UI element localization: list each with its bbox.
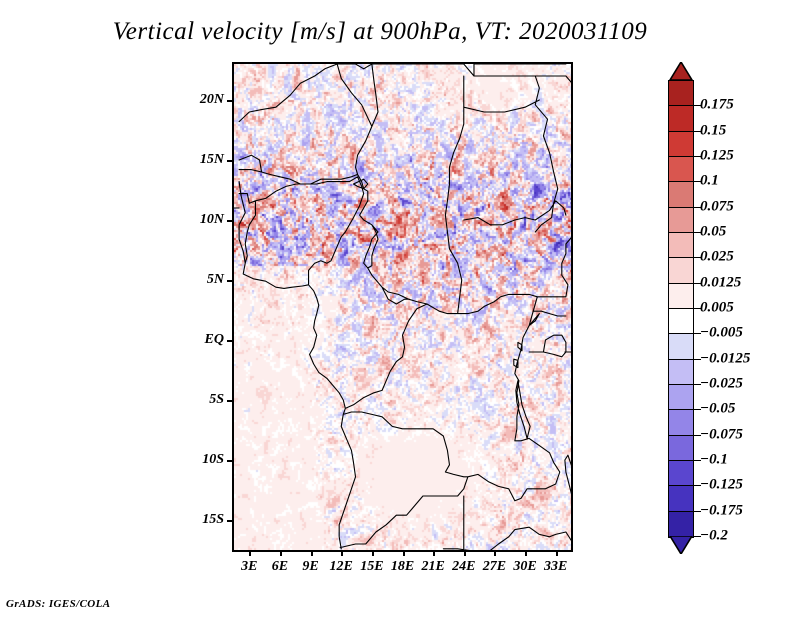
y-tick bbox=[227, 220, 234, 222]
colorbar-min-arrow bbox=[668, 536, 694, 554]
colorbar-swatch bbox=[668, 181, 694, 208]
x-tick-label: 6E bbox=[272, 559, 288, 575]
x-tick-label: 24E bbox=[452, 559, 475, 575]
y-tick-label: 20N bbox=[200, 92, 224, 108]
x-tick bbox=[280, 550, 282, 556]
colorbar-swatch bbox=[668, 131, 694, 158]
x-tick-label: 27E bbox=[483, 559, 506, 575]
map-plot-area: 20N15N10N5NEQ5S10S15S 3E6E9E12E15E18E21E… bbox=[232, 62, 573, 552]
colorbar-label: 0.005 bbox=[700, 300, 734, 317]
y-tick-label: EQ bbox=[205, 332, 224, 348]
colorbar-swatch bbox=[668, 435, 694, 462]
x-tick bbox=[249, 550, 251, 556]
colorbar-swatch bbox=[668, 105, 694, 132]
y-tick bbox=[227, 460, 234, 462]
vertical-velocity-field bbox=[234, 64, 571, 550]
colorbar-swatch bbox=[668, 232, 694, 259]
colorbar: 0.1750.150.1250.10.0750.050.0250.01250.0… bbox=[668, 62, 694, 554]
colorbar-label: −0.1 bbox=[700, 452, 728, 469]
colorbar-swatch bbox=[668, 207, 694, 234]
y-tick bbox=[227, 400, 234, 402]
x-tick bbox=[341, 550, 343, 556]
x-tick bbox=[433, 550, 435, 556]
colorbar-label: 0.15 bbox=[700, 122, 726, 139]
y-tick-label: 5S bbox=[209, 392, 224, 408]
y-tick bbox=[227, 520, 234, 522]
colorbar-swatch bbox=[668, 257, 694, 284]
colorbar-label: −0.005 bbox=[700, 325, 743, 342]
colorbar-swatch bbox=[668, 460, 694, 487]
colorbar-label: 0.075 bbox=[700, 198, 734, 215]
x-tick bbox=[525, 550, 527, 556]
x-tick-label: 18E bbox=[391, 559, 414, 575]
y-tick-label: 10S bbox=[202, 452, 224, 468]
colorbar-label: −0.125 bbox=[700, 477, 743, 494]
x-tick bbox=[311, 550, 313, 556]
y-tick-label: 10N bbox=[200, 212, 224, 228]
y-tick-label: 15N bbox=[200, 152, 224, 168]
colorbar-label: −0.025 bbox=[700, 376, 743, 393]
colorbar-label: 0.125 bbox=[700, 148, 734, 165]
x-tick-label: 30E bbox=[513, 559, 536, 575]
x-tick bbox=[372, 550, 374, 556]
x-tick-label: 15E bbox=[360, 559, 383, 575]
colorbar-swatch bbox=[668, 283, 694, 310]
colorbar-label: −0.05 bbox=[700, 401, 735, 418]
y-tick bbox=[227, 340, 234, 342]
x-tick-label: 33E bbox=[544, 559, 567, 575]
colorbar-label: −0.075 bbox=[700, 426, 743, 443]
colorbar-swatch bbox=[668, 511, 694, 538]
x-tick bbox=[403, 550, 405, 556]
colorbar-label: 0.05 bbox=[700, 224, 726, 241]
x-tick-label: 21E bbox=[421, 559, 444, 575]
y-tick bbox=[227, 100, 234, 102]
colorbar-swatch bbox=[668, 80, 694, 107]
colorbar-swatch bbox=[668, 333, 694, 360]
x-tick-label: 3E bbox=[241, 559, 257, 575]
colorbar-label: 0.175 bbox=[700, 97, 734, 114]
colorbar-label: 0.025 bbox=[700, 249, 734, 266]
attribution-footer: GrADS: IGES/COLA bbox=[6, 598, 111, 610]
colorbar-max-arrow bbox=[668, 62, 694, 80]
colorbar-swatch bbox=[668, 359, 694, 386]
y-tick-label: 5N bbox=[207, 272, 224, 288]
y-tick bbox=[227, 160, 234, 162]
colorbar-label: 0.1 bbox=[700, 173, 719, 190]
y-tick-label: 15S bbox=[202, 512, 224, 528]
colorbar-swatch bbox=[668, 156, 694, 183]
y-tick bbox=[227, 280, 234, 282]
x-tick-label: 9E bbox=[302, 559, 318, 575]
colorbar-swatch bbox=[668, 384, 694, 411]
page-title: Vertical velocity [m/s] at 900hPa, VT: 2… bbox=[0, 18, 760, 46]
colorbar-swatch bbox=[668, 485, 694, 512]
colorbar-label: −0.0125 bbox=[700, 350, 750, 367]
x-tick bbox=[464, 550, 466, 556]
colorbar-swatch bbox=[668, 308, 694, 335]
x-tick bbox=[494, 550, 496, 556]
colorbar-label: 0.0125 bbox=[700, 274, 741, 291]
colorbar-swatch bbox=[668, 409, 694, 436]
x-tick-label: 12E bbox=[330, 559, 353, 575]
colorbar-label: −0.2 bbox=[700, 528, 728, 545]
colorbar-label: −0.175 bbox=[700, 502, 743, 519]
x-tick bbox=[556, 550, 558, 556]
